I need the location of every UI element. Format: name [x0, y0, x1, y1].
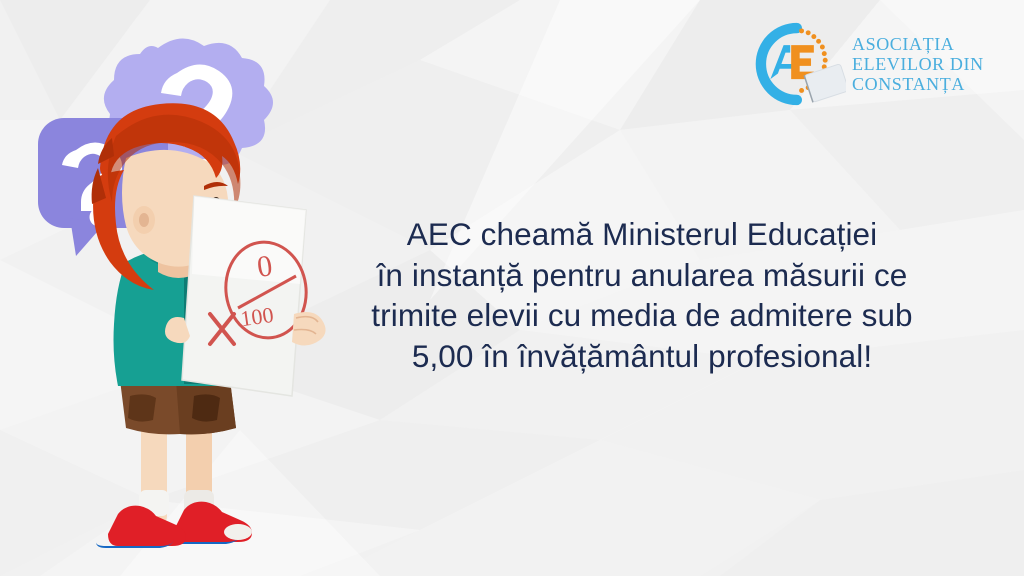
- headline-line-1: AEC cheamă Ministerul Educației: [300, 214, 984, 255]
- aec-logo[interactable]: ASOCIAȚIA ELEVILOR DIN CONSTANȚA: [742, 14, 1012, 114]
- logo-line-2: ELEVILOR DIN: [852, 54, 984, 74]
- boy-hand: [292, 312, 326, 346]
- logo-line-3: CONSTANȚA: [852, 74, 984, 94]
- paper-grade-denominator: 100: [239, 302, 275, 331]
- poster-canvas: ASOCIAȚIA ELEVILOR DIN CONSTANȚA AEC che…: [0, 0, 1024, 576]
- worried-boy-illustration: 0 100: [8, 18, 348, 558]
- headline-line-2: în instanță pentru anularea măsurii ce: [300, 255, 984, 296]
- headline-line-3: trimite elevii cu media de admitere sub: [300, 295, 984, 336]
- aec-logo-wordmark: ASOCIAȚIA ELEVILOR DIN CONSTANȚA: [852, 34, 984, 95]
- headline: AEC cheamă Ministerul Educației în insta…: [300, 214, 984, 376]
- logo-line-1: ASOCIAȚIA: [852, 34, 984, 54]
- boy-shorts: [120, 380, 236, 434]
- aec-logo-mark: [742, 16, 846, 112]
- headline-line-4: 5,00 în învățământul profesional!: [300, 336, 984, 377]
- boy-shoes: [96, 502, 252, 548]
